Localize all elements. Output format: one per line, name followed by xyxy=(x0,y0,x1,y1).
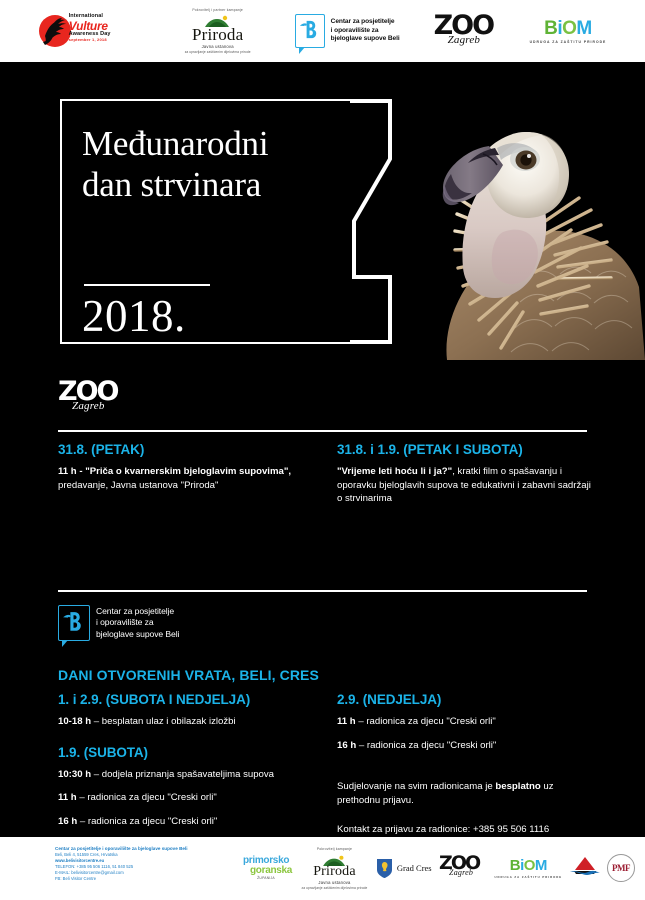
group-entry: 11 h – radionica za djecu "Creski orli" xyxy=(58,791,320,805)
group-entry-text: – radionica za djecu "Creski orli" xyxy=(356,740,496,751)
group-entry-time: 10-18 h xyxy=(58,716,91,727)
group-entry-text: – radionica za djecu "Creski orli" xyxy=(77,816,217,827)
group-entry-time: 16 h xyxy=(58,816,77,827)
footer-biom-wordmark: BiOM xyxy=(494,858,562,873)
logo-biom: BiOM UDRUGA ZA ZAŠTITU PRIRODE xyxy=(530,19,607,44)
footer-logo-biom: BiOM UDRUGA ZA ZAŠTITU PRIRODE xyxy=(494,858,562,879)
group-entry-text: – radionica za djecu "Creski orli" xyxy=(77,792,217,803)
grad-cres-label: Grad Cres xyxy=(397,863,432,873)
group-entry-text: – besplatan ulaz i obilazak izložbi xyxy=(91,716,236,727)
pmf-label: PMF xyxy=(612,863,630,873)
group-entry: 11 h – radionica za djecu "Creski orli" xyxy=(337,715,592,729)
speech-bubble-vulture-icon-dark xyxy=(58,605,90,641)
group-entry-time: 11 h xyxy=(337,716,356,727)
open-days-group: 1.9. (SUBOTA) 10:30 h – dodjela priznanj… xyxy=(58,745,320,837)
priroda-wordmark: Priroda xyxy=(192,26,243,43)
centar-section-logo-text: Centar za posjetitelje i oporavilište za… xyxy=(96,606,179,641)
footer-sponsor-logos: primorsko goranska ŽUPANIJA Pokrovitelj … xyxy=(240,843,635,893)
priroda-sub2: za upravljanje zaštićenim dijelovima pri… xyxy=(185,50,251,54)
logo-international-vulture-awareness-day: International Vulture Awareness Day sept… xyxy=(39,11,141,51)
footer-biom-subtitle: UDRUGA ZA ZAŠTITU PRIRODE xyxy=(494,875,562,879)
spacer xyxy=(337,762,592,780)
biom-subtitle: UDRUGA ZA ZAŠTITU PRIRODE xyxy=(530,40,607,44)
speech-bubble-vulture-icon xyxy=(295,14,325,48)
group-entry: 10:30 h – dodjela priznanja spašavatelji… xyxy=(58,768,320,782)
poster-main-panel: Međunarodni dan strvinara 2018. ZOO Zagr… xyxy=(0,62,645,837)
zoo-left-entry-rest: predavanje, Javna ustanova "Priroda" xyxy=(58,480,218,491)
note-contact: Kontakt za prijavu za radionice: +385 95… xyxy=(337,823,592,837)
centar-logo-text: Centar za posjetitelje i oporavilište za… xyxy=(331,18,400,43)
section-title-open-days: DANI OTVORENIH VRATA, BELI, CRES xyxy=(58,667,319,683)
centar-section-line3: bjeloglave supove Beli xyxy=(96,629,179,641)
group-entry-text: – dodjela priznanja spašavateljima supov… xyxy=(91,769,274,780)
group-entry: 10-18 h – besplatan ulaz i obilazak izlo… xyxy=(58,715,320,729)
hero-title-line1: Međunarodni xyxy=(82,124,352,165)
ivad-line2: Vulture xyxy=(69,20,141,32)
zoo-left-column: 31.8. (PETAK) 11 h - "Priča o kvarnerski… xyxy=(58,442,320,502)
zoo-left-entry: 11 h - "Priča o kvarnerskim bjeloglavim … xyxy=(58,465,320,492)
footer-logo-primorsko-goranska: primorsko goranska ŽUPANIJA xyxy=(240,856,292,880)
footer-priroda-wordmark: Priroda xyxy=(300,865,370,879)
vulture-photo xyxy=(355,62,645,360)
footer-logo-pmf: PMF xyxy=(607,854,635,882)
zoo-left-date: 31.8. (PETAK) xyxy=(58,442,320,457)
priroda-pre-label: Pokrovitelj i partner kampanje xyxy=(192,8,243,12)
note-pre: Sudjelovanje na svim radionicama je xyxy=(337,781,495,792)
poster-root: International Vulture Awareness Day sept… xyxy=(0,0,645,900)
group-entry-time: 11 h xyxy=(58,792,77,803)
open-days-right-column: 2.9. (NEDJELJA) 11 h – radionica za djec… xyxy=(337,692,592,837)
footer-address-block: Centar za posjetitelje i oporavilište za… xyxy=(55,846,230,882)
footer-priroda-sub2: za upravljanje zaštićenim dijelovima pri… xyxy=(300,886,370,890)
priroda-sub1: Javna ustanova xyxy=(202,44,234,49)
pg-line3: ŽUPANIJA xyxy=(240,877,292,880)
logo-zoo-zagreb: ZOO Zagreb xyxy=(434,12,496,50)
zoo-right-date: 31.8. i 1.9. (PETAK I SUBOTA) xyxy=(337,442,592,457)
footer-priroda-pre: Pokrovitelj kampanje xyxy=(300,847,370,851)
footer-logo-hgss xyxy=(570,855,600,882)
logo-centar-beli: Centar za posjetitelje i oporavilište za… xyxy=(295,14,400,48)
group-entry-text: – radionica za djecu "Creski orli" xyxy=(356,716,496,727)
zoo-right-entry-bold: "Vrijeme leti hoću li i ja?" xyxy=(337,466,452,477)
open-days-group: 1. i 2.9. (SUBOTA I NEDJELJA) 10-18 h – … xyxy=(58,692,320,729)
page-title: Međunarodni dan strvinara xyxy=(82,124,352,206)
hero-title-line2: dan strvinara xyxy=(82,165,352,206)
footer-logo-grad-cres: Grad Cres xyxy=(377,859,432,878)
section-logo-centar-beli: Centar za posjetitelje i oporavilište za… xyxy=(58,605,179,641)
centar-line2: i oporavilište za xyxy=(331,27,400,35)
section-logo-zoo-zagreb: ZOO Zagreb xyxy=(58,378,120,416)
pg-line2: goranska xyxy=(250,866,292,876)
footer-logo-zoo-zagreb: ZOO Zagreb xyxy=(439,854,487,882)
group-entry-time: 16 h xyxy=(337,740,356,751)
zoo-right-entry: "Vrijeme leti hoću li i ja?", kratki fil… xyxy=(337,465,592,506)
biom-wordmark: BiOM xyxy=(544,19,592,38)
hgss-mountain-icon xyxy=(570,855,600,877)
hero-year: 2018. xyxy=(82,294,186,339)
group-entry: 16 h – radionica za djecu "Creski orli" xyxy=(58,815,320,829)
note-bold: besplatno xyxy=(495,781,540,792)
centar-section-line1: Centar za posjetitelje xyxy=(96,606,179,618)
note-participation: Sudjelovanje na svim radionicama je besp… xyxy=(337,780,592,807)
priroda-landscape-icon xyxy=(205,14,231,26)
open-days-left-column: 1. i 2.9. (SUBOTA I NEDJELJA) 10-18 h – … xyxy=(58,692,320,837)
grad-cres-crest-icon xyxy=(377,859,392,878)
speech-bubble-tail-icon xyxy=(350,99,394,344)
divider-centar-section xyxy=(58,590,587,592)
logo-priroda: Pokrovitelj i partner kampanje Priroda J… xyxy=(175,8,261,54)
priroda-landscape-icon xyxy=(322,853,348,865)
group-date: 2.9. (NEDJELJA) xyxy=(337,692,592,707)
group-entry-time: 10:30 h xyxy=(58,769,91,780)
group-entry: 16 h – radionica za djecu "Creski orli" xyxy=(337,739,592,753)
zoo-right-column: 31.8. i 1.9. (PETAK I SUBOTA) "Vrijeme l… xyxy=(337,442,592,516)
centar-line3: bjeloglave supove Beli xyxy=(331,35,400,43)
group-date: 1.9. (SUBOTA) xyxy=(58,745,320,760)
zoo-left-entry-bold: 11 h - "Priča o kvarnerskim bjeloglavim … xyxy=(58,466,291,477)
hero-divider-rule xyxy=(84,284,210,286)
centar-section-line2: i oporavilište za xyxy=(96,617,179,629)
footer-facebook[interactable]: FB: Beli Visitor Centre xyxy=(55,876,230,882)
divider-zoo-section xyxy=(58,430,587,432)
top-sponsor-bar: International Vulture Awareness Day sept… xyxy=(0,0,645,62)
footer-zoo-subtitle: Zagreb xyxy=(449,868,487,877)
centar-line1: Centar za posjetitelje xyxy=(331,18,400,26)
group-date: 1. i 2.9. (SUBOTA I NEDJELJA) xyxy=(58,692,320,707)
footer-bar: Centar za posjetitelje i oporavilište za… xyxy=(0,837,645,900)
ivad-line4: september 1, 2018 xyxy=(69,38,141,42)
footer-logo-priroda: Pokrovitelj kampanje Priroda Javna ustan… xyxy=(300,847,370,890)
open-days-group: 2.9. (NEDJELJA) 11 h – radionica za djec… xyxy=(337,692,592,752)
footer-priroda-sub1: Javna ustanova xyxy=(300,880,370,885)
